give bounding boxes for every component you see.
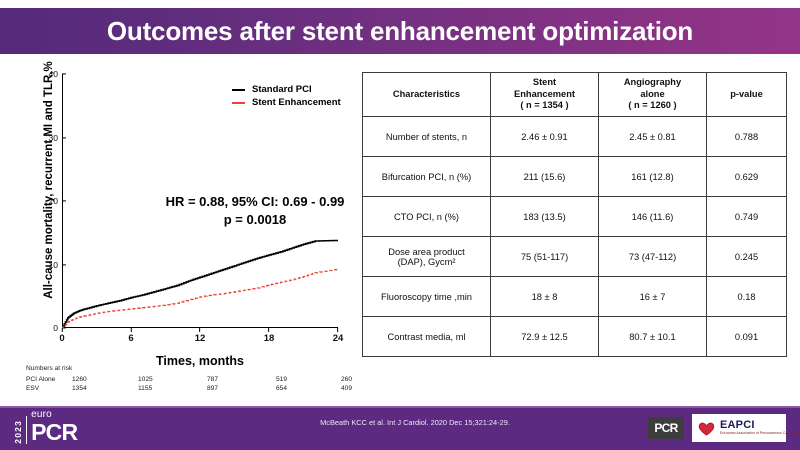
cell-line: Dose area product: [365, 247, 488, 257]
chart-y-tick: 20: [49, 196, 62, 206]
cell-stent-enhancement: 18 ± 8: [491, 277, 599, 317]
cell-p-value: 0.091: [707, 317, 787, 357]
numbers-at-risk-row: ESV 1354 1155 897 654 409: [26, 384, 72, 393]
column-header-characteristics: Characteristics: [363, 73, 491, 117]
risk-count: 1155: [138, 384, 152, 394]
header-line: alone: [601, 89, 704, 101]
cell-characteristic: Number of stents, n: [363, 117, 491, 157]
slide-root: Outcomes after stent enhancement optimiz…: [0, 0, 800, 450]
risk-count: 1354: [72, 384, 87, 394]
footer-divider: [0, 406, 800, 408]
cell-stent-enhancement: 2.46 ± 0.91: [491, 117, 599, 157]
chart-x-tick: 18: [264, 333, 275, 344]
header-line: ( n = 1354 ): [493, 100, 596, 112]
slide-footer: 2023 euro PCR McBeath KCC et al. Int J C…: [0, 406, 800, 450]
chart-x-tick: 0: [59, 333, 64, 344]
numbers-at-risk-table: Numbers at risk PCI Alone 1260 1025 787 …: [26, 364, 72, 393]
risk-count: 897: [207, 384, 218, 394]
legend-line-icon: [232, 89, 245, 91]
numbers-at-risk-title: Numbers at risk: [26, 364, 72, 374]
cell-angiography-alone: 2.45 ± 0.81: [599, 117, 707, 157]
cell-p-value: 0.788: [707, 117, 787, 157]
cell-p-value: 0.245: [707, 237, 787, 277]
column-header-p-value: p-value: [707, 73, 787, 117]
cell-characteristic: Fluoroscopy time ,min: [363, 277, 491, 317]
table-header-row: Characteristics Stent Enhancement ( n = …: [363, 73, 787, 117]
logo-wordmark: euro PCR: [31, 410, 77, 444]
legend-item-standard-pci: Standard PCI: [232, 84, 341, 95]
table-row: CTO PCI, n (%) 183 (13.5) 146 (11.6) 0.7…: [363, 197, 787, 237]
header-line: ( n = 1260 ): [601, 100, 704, 112]
table-row: Number of stents, n 2.46 ± 0.91 2.45 ± 0…: [363, 117, 787, 157]
cell-angiography-alone: 80.7 ± 10.1: [599, 317, 707, 357]
chart-legend: Standard PCI Stent Enhancement: [232, 84, 341, 110]
legend-label: Stent Enhancement: [252, 97, 341, 108]
numbers-at-risk-row: PCI Alone 1260 1025 787 519 260: [26, 375, 72, 384]
cell-p-value: 0.749: [707, 197, 787, 237]
eapci-subtitle-text: European Association of Percutaneous Car…: [720, 432, 800, 436]
cell-angiography-alone: 73 (47-112): [599, 237, 707, 277]
table-row: Fluoroscopy time ,min 18 ± 8 16 ± 7 0.18: [363, 277, 787, 317]
cell-characteristic: CTO PCI, n (%): [363, 197, 491, 237]
heart-icon: [697, 419, 716, 438]
chart-y-tick: 30: [49, 133, 62, 143]
cell-stent-enhancement: 75 (51-117): [491, 237, 599, 277]
chart-y-tick: 10: [49, 260, 62, 270]
header-line: Stent: [493, 77, 596, 89]
title-banner: Outcomes after stent enhancement optimiz…: [0, 8, 800, 54]
table-row: Bifurcation PCI, n (%) 211 (15.6) 161 (1…: [363, 157, 787, 197]
eapci-wordmark: EAPCI European Association of Percutaneo…: [720, 420, 800, 435]
chart-x-tick: 24: [333, 333, 344, 344]
cell-p-value: 0.629: [707, 157, 787, 197]
cell-characteristic: Bifurcation PCI, n (%): [363, 157, 491, 197]
cell-stent-enhancement: 72.9 ± 12.5: [491, 317, 599, 357]
risk-row-label: ESV: [26, 384, 39, 394]
cell-p-value: 0.18: [707, 277, 787, 317]
cell-angiography-alone: 161 (12.8): [599, 157, 707, 197]
page-title: Outcomes after stent enhancement optimiz…: [107, 16, 693, 47]
legend-item-stent-enhancement: Stent Enhancement: [232, 97, 341, 108]
characteristics-table: Characteristics Stent Enhancement ( n = …: [362, 72, 787, 357]
risk-count: 654: [276, 384, 287, 394]
hr-ci-text: HR = 0.88, 95% CI: 0.69 - 0.99: [120, 193, 390, 211]
legend-label: Standard PCI: [252, 84, 312, 95]
cell-line: (DAP), Gycm²: [365, 257, 488, 267]
chart-plot-area: 40 30 20 10 0 0 6 12 18 24 Standard PCI: [62, 74, 338, 328]
chart-hr-annotation: HR = 0.88, 95% CI: 0.69 - 0.99 p = 0.001…: [120, 193, 390, 228]
eapci-logo: EAPCI European Association of Percutaneo…: [692, 414, 786, 442]
cell-angiography-alone: 146 (11.6): [599, 197, 707, 237]
chart-y-tick: 40: [49, 69, 62, 79]
risk-count: 409: [341, 384, 352, 394]
chart-x-tick: 6: [128, 333, 133, 344]
cell-characteristic: Dose area product (DAP), Gycm²: [363, 237, 491, 277]
cell-characteristic: Contrast media, ml: [363, 317, 491, 357]
table-row: Dose area product (DAP), Gycm² 75 (51-11…: [363, 237, 787, 277]
chart-x-axis-label: Times, months: [62, 354, 338, 368]
legend-line-icon: [232, 102, 245, 104]
cell-stent-enhancement: 183 (13.5): [491, 197, 599, 237]
table-row: Contrast media, ml 72.9 ± 12.5 80.7 ± 10…: [363, 317, 787, 357]
column-header-angiography-alone: Angiography alone ( n = 1260 ): [599, 73, 707, 117]
cell-stent-enhancement: 211 (15.6): [491, 157, 599, 197]
kaplan-meier-chart: All-cause mortality, recurrent MI and TL…: [12, 66, 352, 400]
europcr-logo: 2023 euro PCR: [14, 412, 77, 444]
pcr-badge-logo: PCR: [648, 417, 684, 439]
cell-angiography-alone: 16 ± 7: [599, 277, 707, 317]
chart-x-tick: 12: [195, 333, 206, 344]
header-line: Angiography: [601, 77, 704, 89]
p-value-text: p = 0.0018: [120, 211, 390, 229]
header-line: Enhancement: [493, 89, 596, 101]
column-header-stent-enhancement: Stent Enhancement ( n = 1354 ): [491, 73, 599, 117]
